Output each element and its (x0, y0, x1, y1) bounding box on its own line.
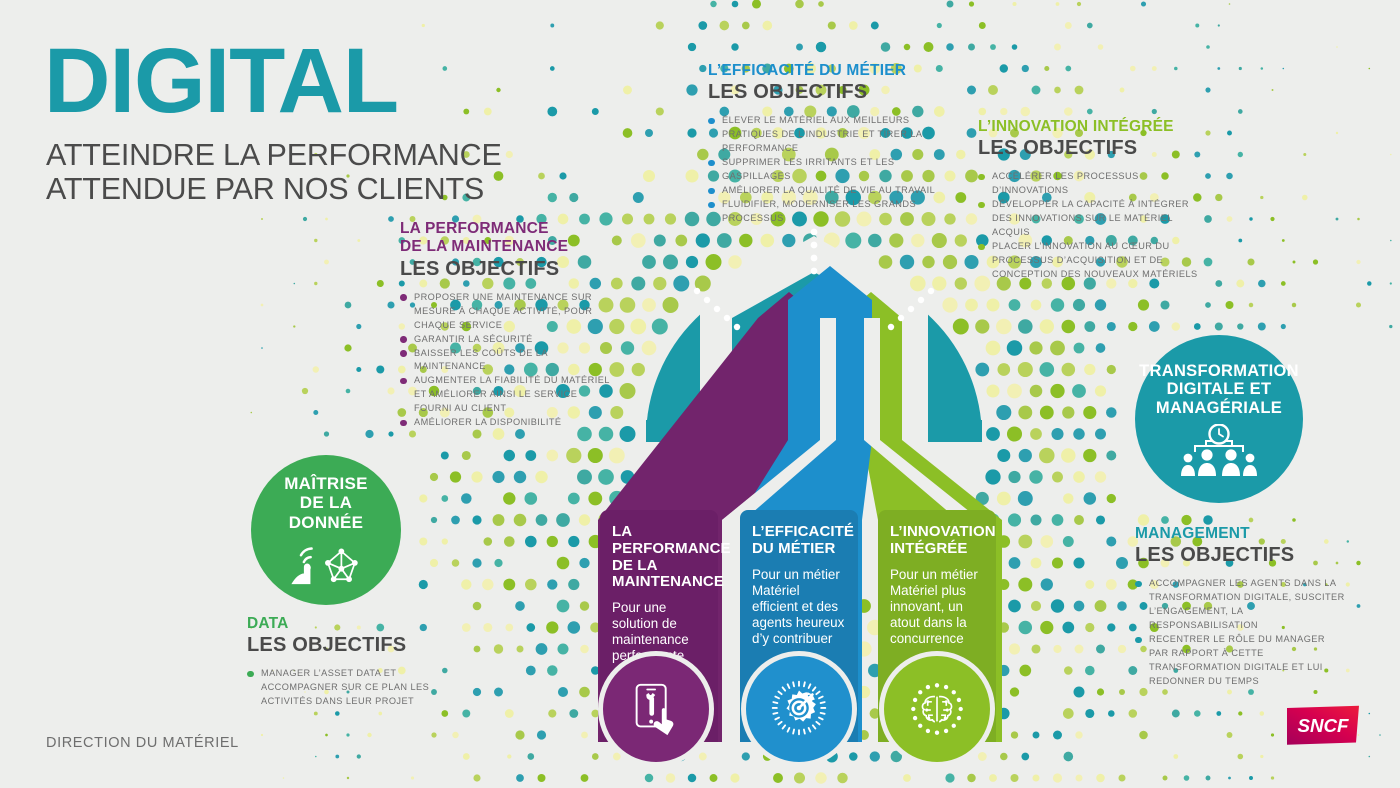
decorative-dot (1238, 711, 1242, 715)
decorative-dot (452, 732, 458, 738)
pillar-title-line-3: MAINTENANCE (612, 574, 706, 591)
decorative-dot (837, 773, 847, 783)
decorative-dot (550, 24, 554, 28)
list-item-text: ACCOMPAGNER LES AGENTS DANS LA TRANSFORM… (1149, 578, 1345, 630)
decorative-dot (1236, 280, 1244, 288)
decorative-dot (1083, 449, 1096, 462)
decorative-dot (1116, 557, 1128, 569)
decorative-dot (1032, 86, 1041, 95)
decorative-dot (739, 234, 752, 247)
icon-circle-efficacite[interactable] (741, 651, 857, 767)
decorative-dot (1248, 689, 1254, 695)
decorative-dot (1227, 690, 1232, 695)
decorative-dot (261, 304, 264, 307)
decorative-dot (998, 665, 1009, 676)
badge-line-2: DIGITALE ET (1139, 380, 1299, 399)
decorative-dot (1249, 303, 1253, 307)
decorative-dot (1012, 44, 1018, 50)
decorative-dot (870, 751, 880, 761)
decorative-dot (979, 22, 986, 29)
decorative-dot (632, 363, 645, 376)
decorative-dot (1022, 65, 1029, 72)
decorative-dot (492, 471, 504, 483)
decorative-dot (1050, 341, 1065, 356)
decorative-dot (1095, 299, 1106, 310)
decorative-dot (1010, 687, 1019, 696)
decorative-dot (1098, 44, 1104, 50)
decorative-dot (442, 538, 448, 544)
decorative-dot (1149, 321, 1160, 332)
decorative-dot (1040, 621, 1053, 634)
decorative-dot (698, 21, 707, 30)
decorative-dot (1096, 774, 1105, 783)
badge-maitrise-donnee[interactable]: MAÎTRISE DE LA DONNÉE (251, 455, 401, 605)
decorative-dot (314, 239, 317, 242)
decorative-dot (696, 233, 710, 247)
list-item: FLUIDIFIER, MODERNISER LES GRANDS PROCES… (708, 198, 938, 226)
decorative-dot (346, 733, 349, 736)
decorative-dot (688, 774, 696, 782)
decorative-dot (656, 21, 664, 29)
decorative-dot (1084, 364, 1095, 375)
decorative-dot (989, 774, 997, 782)
decorative-dot (1007, 384, 1022, 399)
decorative-dot (685, 212, 700, 227)
decorative-dot (1053, 773, 1062, 782)
decorative-dot (932, 276, 946, 290)
decorative-dot (314, 282, 317, 285)
objectives-block-management: MANAGEMENT LES OBJECTIFS ACCOMPAGNER LES… (1135, 525, 1345, 689)
decorative-dot (967, 86, 976, 95)
decorative-dot (1281, 324, 1286, 329)
decorative-dot (1096, 645, 1105, 654)
decorative-dot (1085, 623, 1094, 632)
list-item: ACCÉLÉRER LES PROCESSUS D’INNOVATIONS (978, 170, 1208, 198)
decorative-dot (1052, 514, 1064, 526)
decorative-dot (1238, 239, 1242, 243)
decorative-dot (953, 319, 969, 335)
decorative-dot (261, 347, 263, 349)
decorative-dot (377, 280, 384, 287)
decorative-dot (966, 213, 977, 224)
bullet-dot (1135, 581, 1142, 588)
list-item: RECENTRER LE RÔLE DU MANAGER PAR RAPPORT… (1135, 633, 1345, 689)
decorative-dot (527, 753, 534, 760)
objectives-list-data: MANAGER L’ASSET DATA ET ACCOMPAGNER SUR … (247, 667, 447, 709)
decorative-dot (988, 85, 998, 95)
decorative-dot (828, 21, 836, 29)
decorative-dot (1106, 451, 1116, 461)
decorative-dot (313, 410, 318, 415)
decorative-dot (430, 473, 438, 481)
decorative-dot (857, 599, 871, 613)
decorative-dot (302, 388, 308, 394)
decorative-dot (548, 709, 556, 717)
badge-transformation-digitale[interactable]: TRANSFORMATION DIGITALE ET MANAGÉRIALE (1135, 335, 1303, 503)
decorative-dot (1302, 195, 1308, 201)
decorative-dot (1260, 755, 1263, 758)
decorative-dot (955, 277, 967, 289)
decorative-dot (986, 298, 999, 311)
decorative-dot (1031, 300, 1042, 311)
decorative-dot (557, 643, 568, 654)
decorative-dot (1041, 578, 1053, 590)
decorative-dot (347, 777, 349, 779)
decorative-dot (652, 319, 668, 335)
decorative-dot (1064, 666, 1073, 675)
decorative-dot (1044, 66, 1049, 71)
decorative-dot (1063, 493, 1073, 503)
decorative-dot (795, 0, 804, 8)
decorative-dot (946, 43, 954, 51)
decorative-dot (1031, 558, 1042, 569)
decorative-dot (1051, 298, 1064, 311)
decorative-dot (1106, 579, 1117, 590)
decorative-dot (472, 515, 481, 524)
objectives-category-maintenance: LA PERFORMANCE DE LA MAINTENANCE (400, 220, 615, 257)
decorative-dot (924, 42, 934, 52)
decorative-dot (1229, 3, 1231, 5)
decorative-dot (675, 235, 687, 247)
decorative-dot (1152, 109, 1157, 114)
decorative-dot (1336, 132, 1338, 134)
pillar-title-maintenance: LA PERFORMANCE DE LA MAINTENANCE (612, 524, 706, 591)
decorative-dot (1270, 217, 1274, 221)
decorative-dot (654, 235, 666, 247)
decorative-dot (1141, 1, 1146, 6)
objectives-category-management: MANAGEMENT (1135, 525, 1345, 543)
decorative-dot (598, 469, 614, 485)
decorative-dot (1030, 385, 1043, 398)
decorative-dot (998, 708, 1010, 720)
page-title: DIGITAL (44, 38, 398, 125)
decorative-dot (656, 107, 664, 115)
decorative-dot (504, 450, 515, 461)
decorative-dot (1258, 323, 1266, 331)
decorative-dot (1336, 46, 1338, 48)
decorative-dot (1181, 515, 1191, 525)
decorative-dot (1272, 89, 1274, 91)
decorative-dot (1040, 535, 1053, 548)
decorative-dot (1292, 518, 1296, 522)
list-item: GARANTIR LA SÉCURITÉ (400, 333, 615, 347)
category-line-1: MANAGEMENT (1135, 525, 1345, 543)
decorative-dot (1239, 67, 1242, 70)
decorative-dot (473, 688, 481, 696)
decorative-dot (1117, 601, 1127, 611)
decorative-dot (1226, 173, 1233, 180)
decorative-dot (997, 449, 1010, 462)
decorative-dot (742, 752, 750, 760)
decorative-dot (1216, 711, 1221, 716)
list-item: AMÉLIORER LA QUALITÉ DE VIE AU TRAVAIL (708, 184, 938, 198)
decorative-dot (1077, 2, 1081, 6)
decorative-dot (335, 755, 339, 759)
decorative-dot (484, 108, 492, 116)
list-item-text: MANAGER L’ASSET DATA ET ACCOMPAGNER SUR … (261, 668, 429, 706)
decorative-dot (955, 234, 967, 246)
decorative-dot (1346, 669, 1350, 673)
decorative-dot (997, 363, 1010, 376)
decorative-dot (663, 255, 678, 270)
badge-line-3: MANAGÉRIALE (1139, 399, 1299, 418)
decorative-dot (1062, 406, 1074, 418)
decorative-dot (1283, 68, 1285, 70)
decorative-dot (419, 494, 427, 502)
decorative-dot (986, 341, 1001, 356)
list-item-text: GARANTIR LA SÉCURITÉ (414, 334, 533, 344)
decorative-dot (324, 260, 329, 265)
decorative-dot (505, 624, 513, 632)
decorative-dot (261, 734, 263, 736)
decorative-dot (1194, 323, 1201, 330)
decorative-dot (1367, 281, 1371, 285)
decorative-dot (762, 21, 772, 31)
list-item-text: DÉVELOPPER LA CAPACITÉ À INTÉGRER DES IN… (992, 199, 1189, 237)
decorative-dot (516, 645, 523, 652)
decorative-dot (1195, 24, 1199, 28)
decorative-dot (1217, 67, 1220, 70)
decorative-dot (1095, 600, 1107, 612)
decorative-dot (718, 665, 730, 677)
decorative-dot (688, 43, 696, 51)
decorative-dot (794, 772, 805, 783)
decorative-dot (579, 687, 590, 698)
decorative-dot (1347, 540, 1349, 542)
decorative-dot (1064, 107, 1073, 116)
decorative-dot (1107, 623, 1115, 631)
decorative-dot (904, 44, 911, 51)
decorative-dot (1075, 645, 1084, 654)
decorative-dot (968, 44, 975, 51)
objectives-heading-innovation: LES OBJECTIFS (978, 137, 1208, 160)
people-clock-icon (1173, 424, 1265, 476)
decorative-dot (1128, 322, 1137, 331)
decorative-dot (965, 299, 978, 312)
decorative-dot (824, 233, 840, 249)
category-line-1: LA PERFORMANCE (400, 220, 615, 238)
list-item-text: BAISSER LES COÛTS DE LA MAINTENANCE (414, 348, 547, 372)
list-item: ÉLEVER LE MATÉRIEL AUX MEILLEURS PRATIQU… (708, 114, 938, 156)
decorative-dot (1018, 319, 1033, 334)
page-subtitle: ATTEINDRE LA PERFORMANCE ATTENDUE PAR NO… (46, 138, 646, 206)
sncf-logo[interactable]: SNCF (1285, 705, 1361, 747)
decorative-dot (496, 88, 500, 92)
decorative-dot (356, 367, 361, 372)
decorative-dot (1095, 429, 1106, 440)
decorative-dot (967, 128, 977, 138)
decorative-dot (1293, 261, 1296, 264)
decorative-dot (1084, 321, 1095, 332)
decorative-dot (1087, 23, 1093, 29)
decorative-dot (1065, 22, 1072, 29)
decorative-dot (1369, 713, 1371, 715)
decorative-dot (1074, 343, 1085, 354)
objectives-block-innovation: L’INNOVATION INTÉGRÉE LES OBJECTIFS ACCÉ… (978, 118, 1208, 282)
decorative-dot (956, 150, 965, 159)
decorative-dot (1056, 2, 1060, 6)
decorative-dot (1271, 776, 1274, 779)
decorative-dot (1018, 491, 1033, 506)
decorative-dot (1303, 153, 1306, 156)
decorative-dot (996, 319, 1012, 335)
decorative-dot (1007, 340, 1022, 355)
decorative-dot (579, 514, 590, 525)
decorative-dot (900, 255, 914, 269)
decorative-dot (937, 23, 942, 28)
decorative-dot (1356, 561, 1360, 565)
decorative-dot (730, 773, 739, 782)
decorative-dot (547, 536, 558, 547)
decorative-dot (1225, 301, 1233, 309)
decorative-dot (580, 645, 589, 654)
decorative-dot (344, 344, 351, 351)
decorative-dot (803, 233, 817, 247)
decorative-dot (1030, 514, 1041, 525)
decorative-dot (550, 66, 555, 71)
decorative-dot (430, 559, 438, 567)
footer-department-label: DIRECTION DU MATÉRIEL (46, 735, 239, 751)
hand-wifi-network-icon (287, 536, 365, 586)
pillar-title-innovation: L’INNOVATION INTÉGRÉE (890, 524, 984, 558)
decorative-dot (378, 712, 382, 716)
decorative-dot (1009, 643, 1020, 654)
list-item: SUPPRIMER LES IRRITANTS ET LES GASPILLAG… (708, 156, 938, 184)
decorative-dot (978, 108, 986, 116)
decorative-dot (1018, 362, 1033, 377)
decorative-dot (537, 730, 546, 739)
decorative-dot (1249, 217, 1252, 220)
decorative-dot (1107, 322, 1116, 331)
decorative-dot (728, 255, 741, 268)
decorative-dot (1249, 518, 1254, 523)
decorative-dot (294, 283, 296, 285)
icon-circle-maintenance[interactable] (598, 651, 714, 767)
decorative-dot (697, 149, 708, 160)
decorative-dot (1107, 494, 1116, 503)
decorative-dot (1119, 689, 1125, 695)
decorative-dot (630, 491, 646, 507)
decorative-dot (645, 129, 653, 137)
pillar-body-innovation: Pour un métier Matériel plus innovant, u… (890, 567, 984, 647)
category-line-1: DATA (247, 615, 447, 633)
objectives-category-data: DATA (247, 615, 447, 633)
bullet-dot (978, 202, 985, 209)
decorative-dot (1000, 108, 1007, 115)
decorative-dot (1029, 341, 1042, 354)
decorative-dot (1228, 777, 1231, 780)
decorative-dot (483, 623, 492, 632)
decorative-dot (1051, 428, 1063, 440)
decorative-dot (1021, 107, 1031, 117)
bullet-dot (400, 336, 407, 343)
decorative-dot (588, 448, 603, 463)
decorative-dot (1130, 66, 1136, 72)
objectives-block-maintenance: LA PERFORMANCE DE LA MAINTENANCE LES OBJ… (400, 220, 615, 430)
decorative-dot (325, 734, 328, 737)
decorative-dot (686, 256, 698, 268)
list-item-text: RECENTRER LE RÔLE DU MANAGER PAR RAPPORT… (1149, 634, 1325, 686)
objectives-block-data: DATA LES OBJECTIFS MANAGER L’ASSET DATA … (247, 615, 447, 709)
list-item: MANAGER L’ASSET DATA ET ACCOMPAGNER SUR … (247, 667, 447, 709)
decorative-dot (1073, 299, 1085, 311)
decorative-dot (1087, 109, 1093, 115)
decorative-dot (1215, 280, 1222, 287)
decorative-dot (1083, 406, 1096, 419)
decorative-dot (515, 601, 525, 611)
decorative-dot (731, 43, 738, 50)
decorative-dot (621, 341, 634, 354)
badge-title-data: MAÎTRISE DE LA DONNÉE (284, 474, 368, 532)
decorative-dot (581, 732, 588, 739)
decorative-dot (609, 448, 625, 464)
decorative-dot (419, 537, 427, 545)
decorative-dot (1356, 260, 1360, 264)
bullet-dot (400, 378, 407, 385)
decorative-dot (1369, 68, 1371, 70)
decorative-dot (303, 217, 307, 221)
category-line-1: L’EFFICACITÉ DU MÉTIER (708, 62, 938, 80)
decorative-dot (388, 431, 393, 436)
decorative-dot (1096, 343, 1106, 353)
decorative-dot (569, 709, 578, 718)
decorative-dot (493, 514, 505, 526)
decorative-dot (1218, 24, 1220, 26)
decorative-dot (620, 426, 636, 442)
decorative-dot (592, 753, 599, 760)
decorative-dot (566, 448, 581, 463)
decorative-dot (1052, 472, 1063, 483)
decorative-dot (642, 341, 657, 356)
decorative-dot (859, 730, 869, 740)
decorative-dot (965, 170, 978, 183)
decorative-dot (1106, 536, 1116, 546)
decorative-dot (441, 452, 449, 460)
decorative-dot (388, 216, 394, 222)
decorative-dot (1062, 622, 1074, 634)
decorative-dot (335, 711, 340, 716)
objectives-list-management: ACCOMPAGNER LES AGENTS DANS LA TRANSFORM… (1135, 577, 1345, 689)
decorative-dot (642, 255, 656, 269)
decorative-dot (1389, 325, 1392, 328)
objectives-block-efficacite: L’EFFICACITÉ DU MÉTIER LES OBJECTIFS ÉLE… (708, 62, 938, 226)
decorative-dot (1040, 406, 1054, 420)
icon-circle-innovation[interactable] (879, 651, 995, 767)
objectives-heading-data: LES OBJECTIFS (247, 634, 447, 657)
decorative-dot (1139, 731, 1148, 740)
badge-line-1: MAÎTRISE (284, 474, 368, 493)
decorative-dot (685, 169, 698, 182)
decorative-dot (1073, 471, 1085, 483)
decorative-dot (742, 22, 750, 30)
decorative-dot (975, 319, 989, 333)
decorative-dot (568, 579, 579, 590)
decorative-dot (1194, 710, 1201, 717)
decorative-dot (525, 536, 537, 548)
decorative-dot (1050, 384, 1064, 398)
decorative-dot (943, 255, 957, 269)
decorative-dot (845, 233, 861, 249)
decorative-dot (978, 752, 987, 761)
decorative-dot (653, 277, 666, 290)
objectives-heading-management: LES OBJECTIFS (1135, 544, 1345, 567)
decorative-dot (1096, 515, 1105, 524)
decorative-dot (903, 774, 911, 782)
decorative-dot (1108, 710, 1115, 717)
decorative-dot (1063, 752, 1073, 762)
bullet-dot (708, 118, 715, 125)
decorative-dot (695, 276, 711, 292)
